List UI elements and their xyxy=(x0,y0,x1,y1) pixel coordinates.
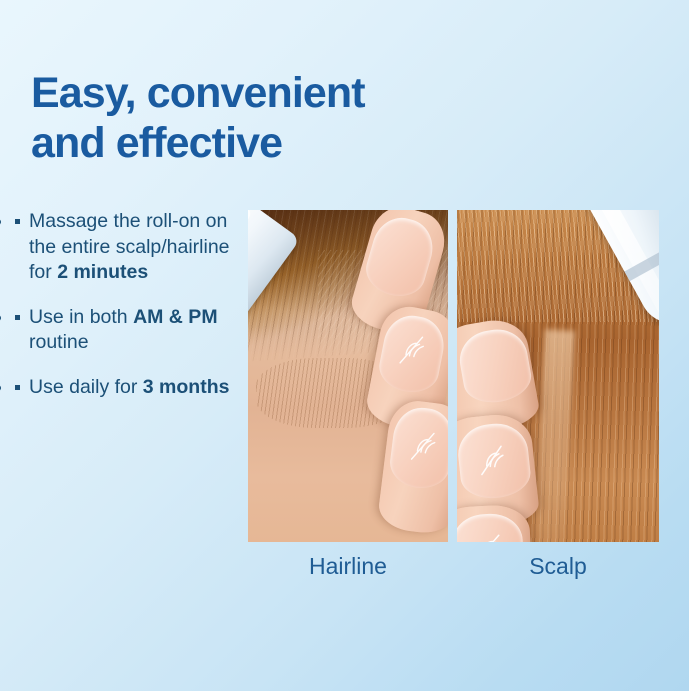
leaf-nail-art-icon xyxy=(471,442,512,478)
instruction-list: Massage the roll-on on the entire scalp/… xyxy=(13,209,245,400)
promo-card: Easy, convenient and effective Massage t… xyxy=(0,0,689,691)
leaf-nail-art-icon xyxy=(392,333,432,366)
caption-hairline: Hairline xyxy=(248,553,448,580)
list-item-prefix: Use in both xyxy=(29,306,133,328)
caption-scalp: Scalp xyxy=(457,553,659,580)
bullet-square-icon xyxy=(15,219,20,224)
leaf-nail-art-icon xyxy=(468,532,508,542)
leaf-nail-art-icon xyxy=(403,430,443,463)
applicator-highlight xyxy=(248,210,253,317)
hairline-hand xyxy=(350,212,448,542)
bullet-square-icon xyxy=(15,315,20,320)
photo-pair: vise xyxy=(248,210,659,542)
page-title-line-1: Easy, convenient xyxy=(31,69,471,119)
page-title: Easy, convenient and effective xyxy=(31,69,471,169)
bullet-square-icon xyxy=(15,385,20,390)
list-item-prefix: Use daily for xyxy=(29,376,143,398)
scalp-hand xyxy=(457,328,553,542)
list-item-suffix: routine xyxy=(29,331,89,353)
page-title-line-2: and effective xyxy=(31,119,471,169)
product-label-text: vise xyxy=(248,216,283,268)
photo-hairline: vise xyxy=(248,210,448,542)
photo-scalp xyxy=(457,210,659,542)
list-item: Use in both AM & PM routine xyxy=(13,305,245,356)
list-item: Use daily for 3 months xyxy=(13,375,245,401)
list-item-emphasis: 2 minutes xyxy=(57,261,148,283)
list-item-emphasis: AM & PM xyxy=(133,306,218,328)
list-item-emphasis: 3 months xyxy=(143,376,230,398)
list-item: Massage the roll-on on the entire scalp/… xyxy=(13,209,245,286)
